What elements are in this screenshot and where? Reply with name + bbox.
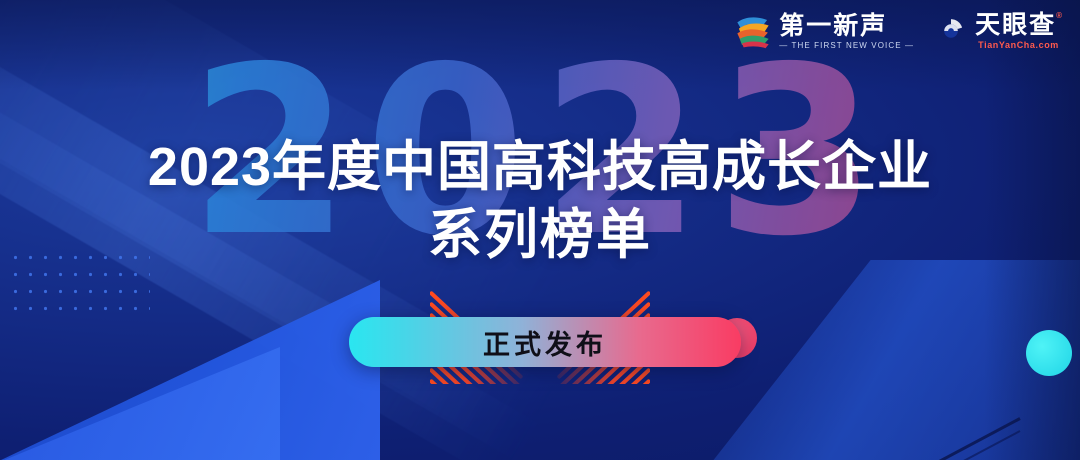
bottom-left-triangle-highlight [0, 320, 280, 460]
cyan-circle-accent [1026, 330, 1072, 376]
bottom-right-band-line [648, 417, 1020, 460]
bottom-right-band-line [649, 430, 1021, 460]
ribbon-logo-icon [734, 13, 772, 49]
title-line-2: 系列榜单 [0, 204, 1080, 266]
page-title: 2023年度中国高科技高成长企业 系列榜单 [0, 136, 1080, 266]
bottom-right-band [690, 260, 1080, 460]
logo-tianyancha-tagline: TianYanCha.com [975, 41, 1062, 50]
release-cta-label: 正式发布 [483, 323, 607, 362]
logo-tianyancha-text: 天眼查 ® TianYanCha.com [975, 12, 1062, 50]
promo-banner: 2023 2023年度中国高科技高成长企业 系列榜单 正式发布 第一新声 — T… [0, 0, 1080, 460]
release-cta-button[interactable]: 正式发布 [349, 317, 741, 367]
logo-tianyancha-name-row: 天眼查 ® [975, 12, 1062, 37]
logo-tianyancha[interactable]: 天眼查 ® TianYanCha.com [934, 12, 1062, 50]
logo-diyixinsheng-text: 第一新声 — THE FIRST NEW VOICE — [779, 13, 914, 50]
logo-diyixinsheng[interactable]: 第一新声 — THE FIRST NEW VOICE — [734, 13, 914, 50]
registered-trademark-icon: ® [1056, 12, 1062, 20]
logo-diyixinsheng-name: 第一新声 [779, 13, 914, 38]
title-line-1: 2023年度中国高科技高成长企业 [0, 136, 1080, 198]
logo-diyixinsheng-tagline: — THE FIRST NEW VOICE — [779, 42, 914, 50]
eye-logo-icon [934, 14, 968, 48]
logo-group: 第一新声 — THE FIRST NEW VOICE — 天眼查 ® TianY… [734, 12, 1062, 50]
logo-tianyancha-name: 天眼查 [975, 12, 1056, 37]
bottom-left-triangle [0, 280, 380, 460]
